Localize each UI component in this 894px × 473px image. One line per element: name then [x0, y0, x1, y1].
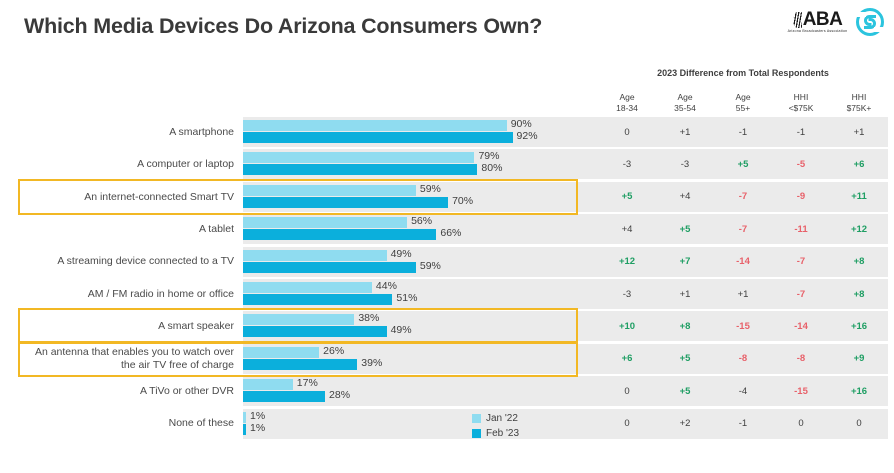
row-category-label: A tablet	[22, 214, 234, 244]
diff-cell: +7	[656, 256, 714, 267]
bar-jan-2022	[243, 379, 293, 390]
chart-row: A streaming device connected to a TV49%5…	[0, 247, 894, 277]
bar-value-label-jan-2022: 38%	[358, 312, 379, 324]
bar-value-label-jan-2022: 90%	[511, 118, 532, 130]
diff-column-header-5: HHI$75K+	[830, 92, 888, 114]
diff-cell: 0	[830, 418, 888, 429]
diff-cell: -3	[656, 159, 714, 170]
bar-value-label-jan-2022: 1%	[250, 410, 265, 422]
bar-value-label-feb-2023: 39%	[361, 357, 382, 369]
bar-value-label-feb-2023: 1%	[250, 422, 265, 434]
diff-cell: -4	[714, 386, 772, 397]
bar-jan-2022	[243, 347, 319, 358]
diff-cell: -3	[598, 159, 656, 170]
diff-cell: -7	[714, 224, 772, 235]
row-category-label: A TiVo or other DVR	[22, 376, 234, 406]
chart-row: A TiVo or other DVR17%28%0+5-4-15+16	[0, 376, 894, 406]
logo-group: ABA Arizona Broadcasters Association	[789, 8, 884, 36]
diff-column-header-line1: Age	[656, 92, 714, 103]
row-diff-values: +5+4-7-9+11	[598, 182, 888, 212]
diff-column-header-2: Age35-54	[656, 92, 714, 114]
diff-cell: +2	[656, 418, 714, 429]
row-category-label: An antenna that enables you to watch ove…	[22, 344, 234, 374]
diff-cell: +6	[830, 159, 888, 170]
diff-cell: -5	[772, 159, 830, 170]
bar-jan-2022	[243, 120, 507, 131]
row-diff-values: +10+8-15-14+16	[598, 311, 888, 341]
diff-cell: +8	[656, 321, 714, 332]
diff-cell: +16	[830, 321, 888, 332]
page-title: Which Media Devices Do Arizona Consumers…	[24, 14, 542, 39]
diff-cell: +12	[830, 224, 888, 235]
row-category-label: AM / FM radio in home or office	[22, 279, 234, 309]
diff-cell: -3	[598, 289, 656, 300]
diff-cell: -14	[772, 321, 830, 332]
diff-column-header-line1: Age	[598, 92, 656, 103]
diff-cell: +16	[830, 386, 888, 397]
bar-value-label-jan-2022: 59%	[420, 183, 441, 195]
bar-jan-2022	[243, 185, 416, 196]
diff-section-title: 2023 Difference from Total Respondents	[598, 68, 888, 78]
chart-plot-area: A smartphone90%92%0+1-1-1+1A computer or…	[0, 117, 894, 447]
aba-logo: ABA Arizona Broadcasters Association	[789, 10, 846, 33]
chart-row: A smart speaker38%49%+10+8-15-14+16	[0, 311, 894, 341]
diff-cell: +8	[830, 256, 888, 267]
bar-value-label-feb-2023: 80%	[481, 162, 502, 174]
bar-value-label-jan-2022: 44%	[376, 280, 397, 292]
s-circle-logo-icon	[856, 8, 884, 36]
diff-cell: -14	[714, 256, 772, 267]
row-category-label: A computer or laptop	[22, 149, 234, 179]
diff-cell: -7	[772, 256, 830, 267]
diff-column-header-line2: $75K+	[830, 103, 888, 114]
diff-column-header-line2: 18-34	[598, 103, 656, 114]
bar-value-label-jan-2022: 56%	[411, 215, 432, 227]
legend-item: Feb '23	[472, 426, 519, 441]
bar-feb-2023	[243, 164, 477, 175]
chart-row: A computer or laptop79%80%-3-3+5-5+6	[0, 149, 894, 179]
bar-jan-2022	[243, 250, 387, 261]
chart-legend: Jan '22Feb '23	[472, 411, 519, 441]
diff-cell: -8	[772, 353, 830, 364]
chart-row: A tablet56%66%+4+5-7-11+12	[0, 214, 894, 244]
bar-feb-2023	[243, 294, 392, 305]
diff-cell: 0	[598, 386, 656, 397]
diff-cell: +9	[830, 353, 888, 364]
diff-cell: -15	[772, 386, 830, 397]
bar-value-label-feb-2023: 51%	[396, 292, 417, 304]
row-category-label: A smartphone	[22, 117, 234, 147]
legend-item: Jan '22	[472, 411, 519, 426]
row-diff-values: 0+5-4-15+16	[598, 376, 888, 406]
diff-cell: +5	[656, 353, 714, 364]
row-diff-values: -3-3+5-5+6	[598, 149, 888, 179]
diff-column-header-line1: HHI	[830, 92, 888, 103]
diff-cell: +4	[598, 224, 656, 235]
diff-cell: -7	[772, 289, 830, 300]
diff-cell: +5	[656, 386, 714, 397]
bar-jan-2022	[243, 314, 354, 325]
bar-value-label-jan-2022: 26%	[323, 345, 344, 357]
bar-value-label-feb-2023: 28%	[329, 389, 350, 401]
bar-feb-2023	[243, 132, 513, 143]
row-diff-values: 0+2-100	[598, 409, 888, 439]
bar-jan-2022	[243, 282, 372, 293]
bar-value-label-feb-2023: 66%	[440, 227, 461, 239]
bar-feb-2023	[243, 229, 436, 240]
bar-value-label-jan-2022: 79%	[478, 150, 499, 162]
diff-column-headers: Age18-34Age35-54Age55+HHI<$75KHHI$75K+	[598, 92, 888, 114]
diff-cell: +12	[598, 256, 656, 267]
diff-cell: +6	[598, 353, 656, 364]
diff-cell: -8	[714, 353, 772, 364]
bar-jan-2022	[243, 217, 407, 228]
diff-cell: -11	[772, 224, 830, 235]
row-category-label: A streaming device connected to a TV	[22, 247, 234, 277]
diff-cell: 0	[772, 418, 830, 429]
row-diff-values: -3+1+1-7+8	[598, 279, 888, 309]
chart-row: A smartphone90%92%0+1-1-1+1	[0, 117, 894, 147]
legend-swatch	[472, 414, 481, 423]
diff-cell: 0	[598, 418, 656, 429]
bar-value-label-jan-2022: 49%	[391, 248, 412, 260]
bar-value-label-feb-2023: 70%	[452, 195, 473, 207]
legend-label: Feb '23	[486, 428, 519, 439]
bar-value-label-feb-2023: 49%	[391, 324, 412, 336]
bar-feb-2023	[243, 262, 416, 273]
diff-cell: 0	[598, 127, 656, 138]
row-category-label: A smart speaker	[22, 311, 234, 341]
row-category-label: An internet-connected Smart TV	[22, 182, 234, 212]
legend-label: Jan '22	[486, 413, 518, 424]
diff-cell: -1	[714, 127, 772, 138]
aba-logo-subtext: Arizona Broadcasters Association	[788, 30, 848, 33]
diff-cell: -9	[772, 191, 830, 202]
diff-cell: -1	[772, 127, 830, 138]
diff-column-header-4: HHI<$75K	[772, 92, 830, 114]
diff-column-header-line2: 35-54	[656, 103, 714, 114]
bar-value-label-feb-2023: 92%	[517, 130, 538, 142]
diff-cell: +1	[656, 289, 714, 300]
chart-row: An antenna that enables you to watch ove…	[0, 344, 894, 374]
bar-feb-2023	[243, 197, 448, 208]
diff-cell: -15	[714, 321, 772, 332]
diff-cell: +11	[830, 191, 888, 202]
bar-value-label-jan-2022: 17%	[297, 377, 318, 389]
diff-cell: +8	[830, 289, 888, 300]
bar-feb-2023	[243, 326, 387, 337]
diff-column-header-line1: HHI	[772, 92, 830, 103]
row-diff-values: +4+5-7-11+12	[598, 214, 888, 244]
diff-cell: +5	[598, 191, 656, 202]
diff-cell: +5	[714, 159, 772, 170]
chart-row: An internet-connected Smart TV59%70%+5+4…	[0, 182, 894, 212]
row-diff-values: 0+1-1-1+1	[598, 117, 888, 147]
row-diff-values: +12+7-14-7+8	[598, 247, 888, 277]
diff-cell: +5	[656, 224, 714, 235]
row-category-label: None of these	[22, 409, 234, 439]
diff-cell: -7	[714, 191, 772, 202]
diff-column-header-line1: Age	[714, 92, 772, 103]
bar-feb-2023	[243, 424, 246, 435]
diff-cell: +4	[656, 191, 714, 202]
bar-jan-2022	[243, 412, 246, 423]
aba-swoosh-icon	[793, 12, 802, 28]
diff-cell: +10	[598, 321, 656, 332]
diff-cell: +1	[830, 127, 888, 138]
aba-logo-text: ABA	[803, 10, 843, 29]
diff-column-header-1: Age18-34	[598, 92, 656, 114]
bar-value-label-feb-2023: 59%	[420, 260, 441, 272]
diff-column-header-line2: 55+	[714, 103, 772, 114]
chart-row: AM / FM radio in home or office44%51%-3+…	[0, 279, 894, 309]
bar-feb-2023	[243, 391, 325, 402]
diff-column-header-3: Age55+	[714, 92, 772, 114]
bar-feb-2023	[243, 359, 357, 370]
chart-row: None of these1%1%0+2-100	[0, 409, 894, 439]
diff-column-header-line2: <$75K	[772, 103, 830, 114]
diff-cell: +1	[656, 127, 714, 138]
bar-jan-2022	[243, 152, 474, 163]
diff-cell: -1	[714, 418, 772, 429]
row-diff-values: +6+5-8-8+9	[598, 344, 888, 374]
legend-swatch	[472, 429, 481, 438]
diff-cell: +1	[714, 289, 772, 300]
